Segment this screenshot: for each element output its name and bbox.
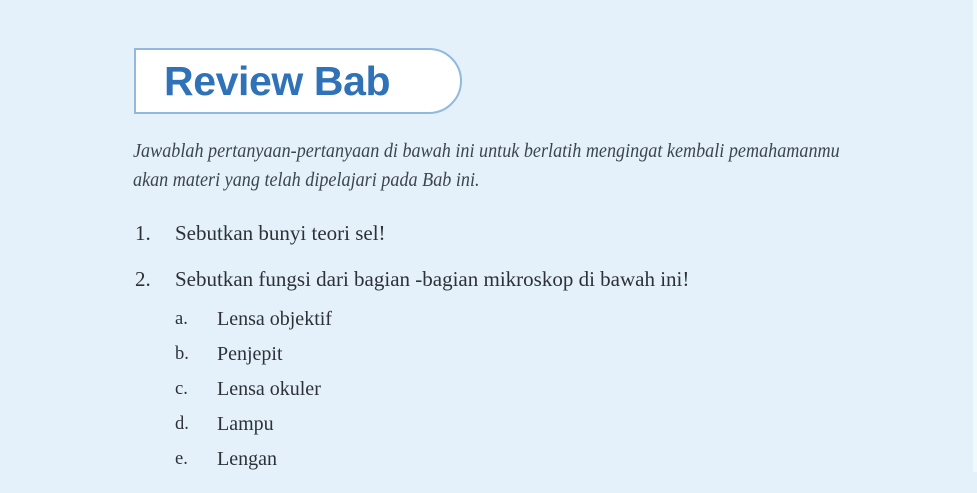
sub-item-label: Lampu xyxy=(217,413,274,435)
sub-item-letter: d. xyxy=(175,407,205,442)
question-text: Sebutkan bunyi teori sel! xyxy=(175,218,893,248)
sub-item-label: Penjepit xyxy=(217,343,283,365)
document-page: Review Bab Jawablah pertanyaan-pertanyaa… xyxy=(0,0,977,472)
intro-paragraph: Jawablah pertanyaan-pertanyaan di bawah … xyxy=(133,137,829,195)
page-title: Review Bab xyxy=(136,61,390,102)
page-title-badge: Review Bab xyxy=(134,48,462,114)
question-list: 1. Sebutkan bunyi teori sel! 2. Sebutkan… xyxy=(133,218,893,493)
sub-item-label: Lensa okuler xyxy=(217,378,321,400)
sub-item-letter: c. xyxy=(175,372,205,407)
question-item: 1. Sebutkan bunyi teori sel! xyxy=(133,218,893,248)
sub-item-label: Lensa objektif xyxy=(217,308,332,330)
list-item: b. Penjepit xyxy=(175,337,893,372)
list-item: d. Lampu xyxy=(175,407,893,442)
list-item: c. Lensa okuler xyxy=(175,372,893,407)
sub-item-letter: b. xyxy=(175,337,205,372)
question-text: Sebutkan fungsi dari bagian -bagian mikr… xyxy=(175,264,893,294)
question-number: 1. xyxy=(135,218,165,248)
page-right-edge-strip xyxy=(973,0,977,472)
question-item: 2. Sebutkan fungsi dari bagian -bagian m… xyxy=(133,264,893,477)
sub-item-label: Lengan xyxy=(217,448,277,470)
question-number: 2. xyxy=(135,264,165,294)
intro-line-1: Jawablah pertanyaan-pertanyaan di bawah … xyxy=(133,137,829,166)
intro-line-2: akan materi yang telah dipelajari pada B… xyxy=(133,166,829,195)
question-sub-list: a. Lensa objektif b. Penjepit c. Lensa o… xyxy=(175,302,893,477)
sub-item-letter: a. xyxy=(175,302,205,337)
list-item: a. Lensa objektif xyxy=(175,302,893,337)
